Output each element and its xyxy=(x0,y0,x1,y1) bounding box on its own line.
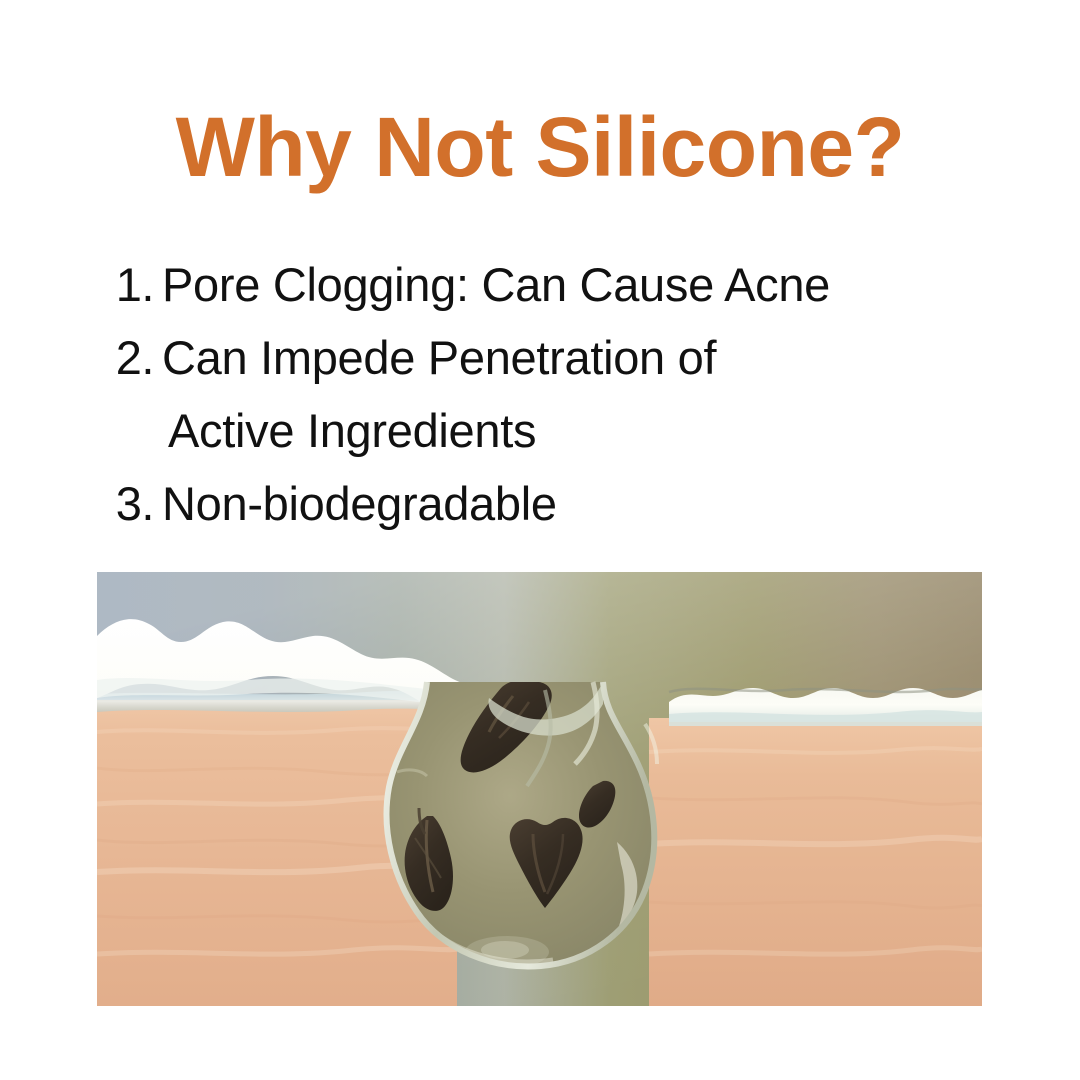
skin-cross-section-svg xyxy=(97,572,982,1006)
list-item: 3. Non-biodegradable xyxy=(96,467,1016,540)
list-item-label: Non-biodegradable xyxy=(154,467,557,540)
reasons-list: 1. Pore Clogging: Can Cause Acne 2. Can … xyxy=(96,248,1016,540)
list-item-label: Can Impede Penetration of xyxy=(154,321,716,394)
poster-root: Why Not Silicone? 1. Pore Clogging: Can … xyxy=(0,0,1080,1080)
list-item-label: Active Ingredients xyxy=(154,394,536,467)
list-item-continuation: Active Ingredients xyxy=(96,394,1016,467)
list-item-number: 1. xyxy=(96,248,154,321)
skin-cross-section-image xyxy=(97,572,982,1006)
skin-right xyxy=(649,718,982,1006)
list-item-label: Pore Clogging: Can Cause Acne xyxy=(154,248,830,321)
list-item: 1. Pore Clogging: Can Cause Acne xyxy=(96,248,1016,321)
list-item: 2. Can Impede Penetration of xyxy=(96,321,1016,394)
list-item-number: 3. xyxy=(96,467,154,540)
list-item-number: 2. xyxy=(96,321,154,394)
page-title: Why Not Silicone? xyxy=(0,103,1080,191)
